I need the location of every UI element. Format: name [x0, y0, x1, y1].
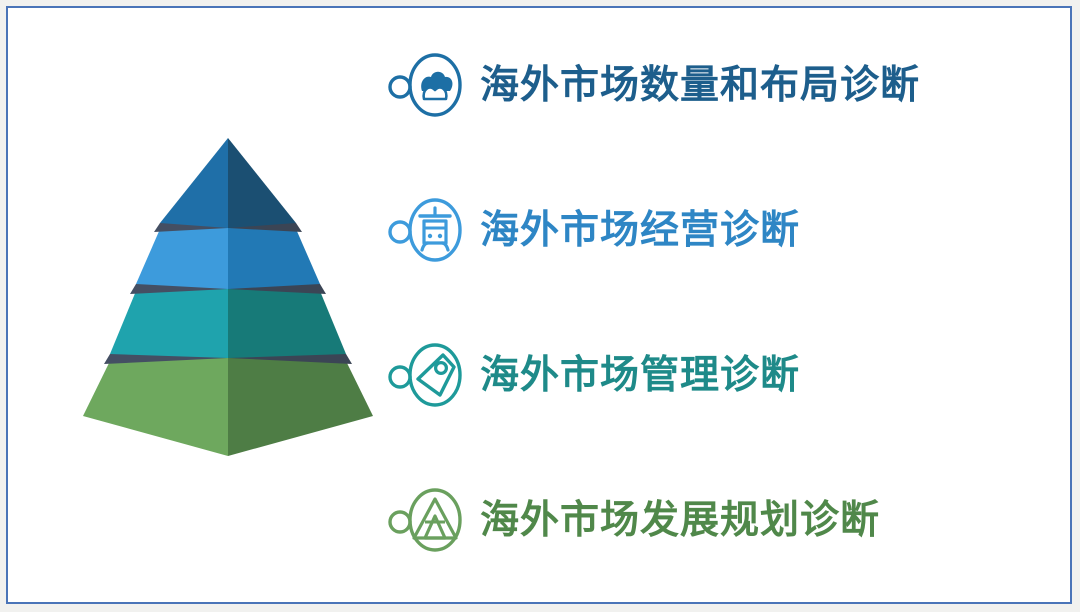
list-item-row-1[interactable]: 海外市场数量和布局诊断	[388, 45, 920, 125]
pyramid-tier-2	[136, 219, 320, 289]
pyramid-tier-2-left-face	[136, 226, 228, 289]
pyramid-tier-4	[83, 348, 373, 456]
list-item-label: 海外市场发展规划诊断	[480, 501, 880, 540]
pyramid-triangle-icon	[388, 482, 476, 558]
tram-building-icon	[388, 192, 476, 268]
pyramid-tier-2-right-face	[228, 226, 320, 289]
pyramid-tier-1-right-face	[228, 138, 296, 228]
list-item-row-2[interactable]: 海外市场经营诊断	[388, 190, 800, 270]
pyramid-svg	[68, 126, 388, 471]
pyramid-tier-4-right-face	[228, 356, 373, 456]
pyramid-tier-1	[160, 138, 296, 228]
list-item-label: 海外市场经营诊断	[480, 211, 800, 250]
pyramid-tier-3	[110, 279, 346, 358]
list-item-label: 海外市场管理诊断	[480, 356, 800, 395]
pyramid-tier-4-left-face	[83, 356, 228, 456]
list-item-row-4[interactable]: 海外市场发展规划诊断	[388, 480, 880, 560]
pyramid-tier-1-left-face	[160, 138, 228, 228]
diagnosis-item-list: 海外市场数量和布局诊断 海外市场经营诊断	[388, 8, 1068, 606]
pyramid-tier-3-right-face	[228, 286, 346, 358]
cloud-hill-icon	[388, 47, 476, 123]
list-item-row-3[interactable]: 海外市场管理诊断	[388, 335, 800, 415]
pyramid-graphic	[68, 126, 388, 471]
pyramid-tier-3-left-face	[110, 286, 228, 358]
slide-canvas: 海外市场数量和布局诊断 海外市场经营诊断	[6, 6, 1072, 604]
list-item-label: 海外市场数量和布局诊断	[480, 66, 920, 105]
price-tag-icon	[388, 337, 476, 413]
